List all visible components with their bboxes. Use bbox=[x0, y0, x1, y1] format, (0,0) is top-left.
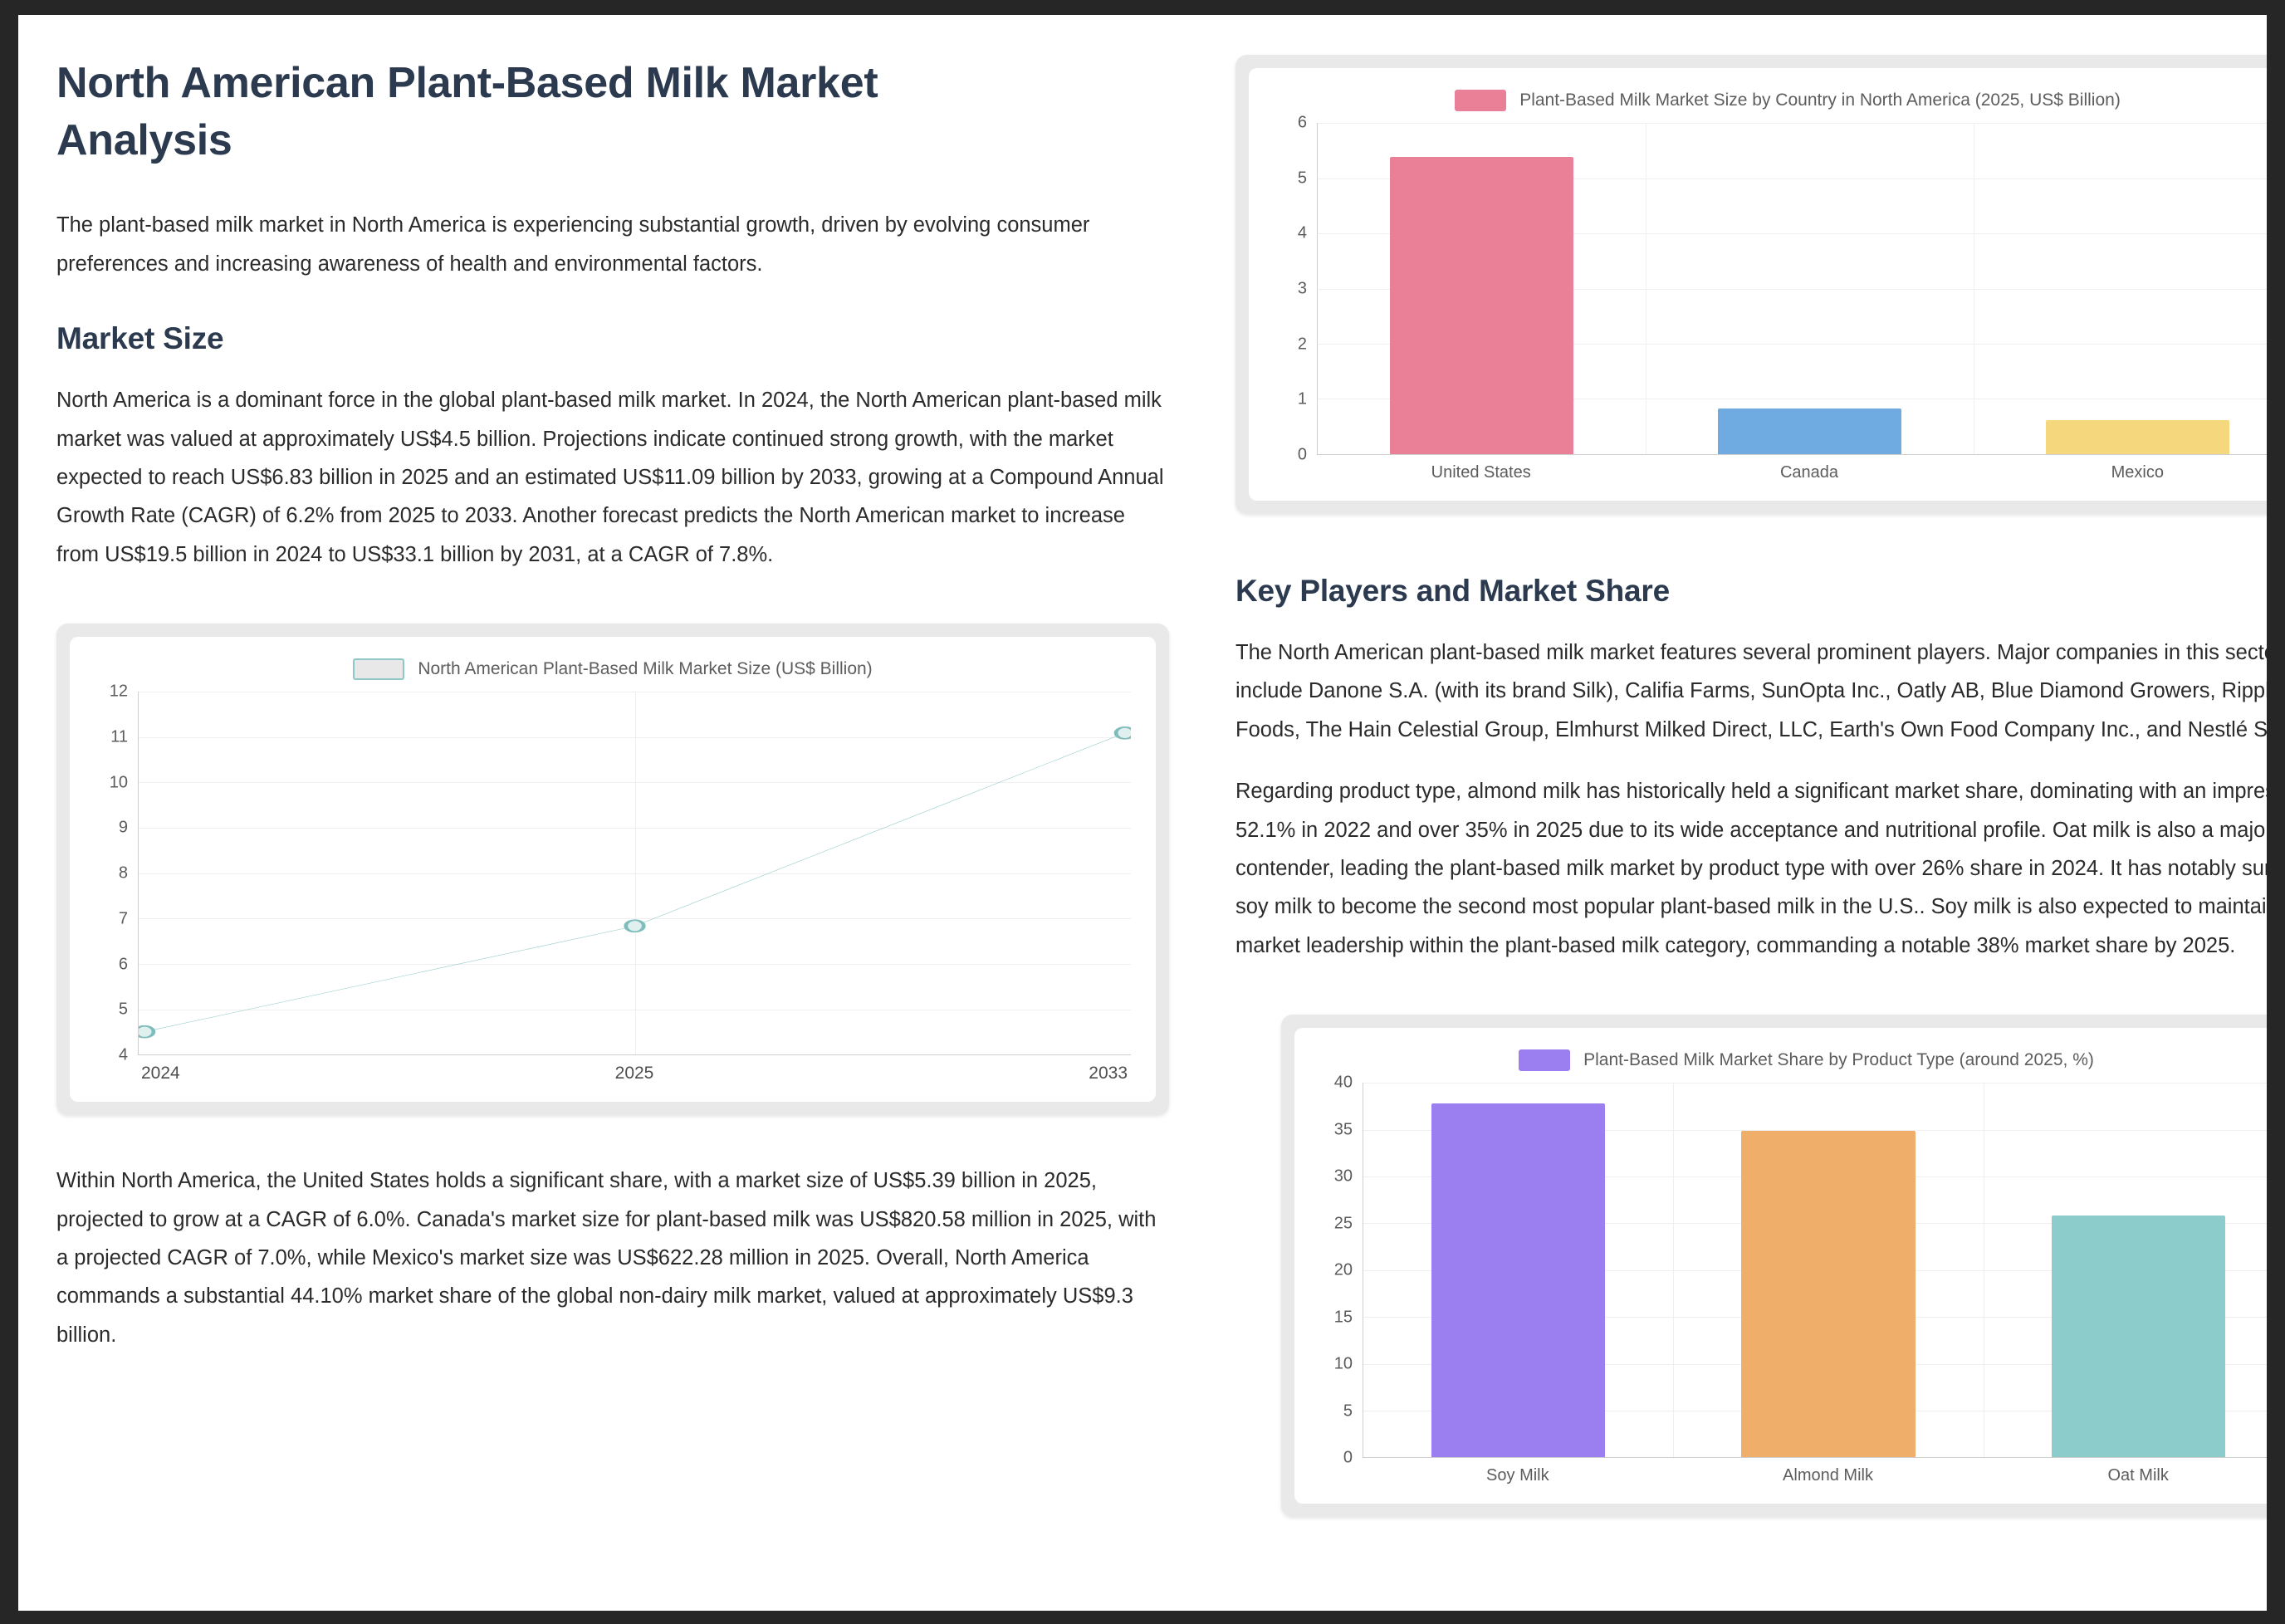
bar-mexico[interactable] bbox=[2046, 420, 2229, 454]
y-tick: 10 bbox=[1334, 1355, 1353, 1374]
chart-card: North American Plant-Based Milk Market S… bbox=[70, 637, 1156, 1102]
plot-area bbox=[1317, 123, 2267, 455]
legend-label: Plant-Based Milk Market Size by Country … bbox=[1519, 90, 2121, 110]
y-axis: 12 11 10 9 8 7 6 5 4 bbox=[95, 692, 138, 1055]
x-tick: Canada bbox=[1645, 463, 1973, 482]
bar-united-states[interactable] bbox=[1390, 157, 1573, 454]
section-heading-key-players: Key Players and Market Share bbox=[1235, 574, 2267, 609]
bar-slot bbox=[1974, 123, 2267, 454]
data-point-marker bbox=[1116, 727, 1131, 739]
y-tick: 8 bbox=[119, 864, 128, 883]
chart-product-type-share[interactable]: Plant-Based Milk Market Share by Product… bbox=[1281, 1015, 2267, 1517]
bar-soy-milk[interactable] bbox=[1431, 1103, 1605, 1457]
plot-area bbox=[1363, 1083, 2267, 1458]
x-axis: Soy Milk Almond Milk Oat Milk bbox=[1363, 1466, 2267, 1485]
x-tick: United States bbox=[1317, 463, 1645, 482]
chart-card: Plant-Based Milk Market Size by Country … bbox=[1249, 68, 2267, 501]
bar-slot bbox=[1646, 123, 1974, 454]
left-column: North American Plant-Based Milk Market A… bbox=[56, 55, 1169, 1594]
x-tick: Soy Milk bbox=[1363, 1466, 1673, 1485]
y-tick: 4 bbox=[1298, 224, 1307, 243]
y-tick: 0 bbox=[1298, 446, 1307, 465]
market-size-paragraph-2: Within North America, the United States … bbox=[56, 1162, 1169, 1354]
bar-series bbox=[1363, 1083, 2267, 1457]
x-tick: 2033 bbox=[799, 1064, 1131, 1083]
x-tick: Almond Milk bbox=[1673, 1466, 1984, 1485]
data-point-marker bbox=[626, 920, 644, 932]
y-tick: 5 bbox=[119, 1000, 128, 1020]
y-tick: 6 bbox=[1298, 114, 1307, 133]
bar-series bbox=[1318, 123, 2267, 454]
y-axis: 6 5 4 3 2 1 0 bbox=[1274, 123, 1317, 455]
data-point-marker bbox=[139, 1026, 154, 1038]
y-tick: 35 bbox=[1334, 1120, 1353, 1139]
y-tick: 20 bbox=[1334, 1261, 1353, 1280]
x-axis: United States Canada Mexico bbox=[1317, 463, 2267, 482]
y-tick: 30 bbox=[1334, 1167, 1353, 1186]
y-tick: 9 bbox=[119, 819, 128, 838]
bar-canada[interactable] bbox=[1718, 408, 1901, 454]
x-axis: 2024 2025 2033 bbox=[138, 1064, 1131, 1083]
x-tick: 2025 bbox=[470, 1064, 799, 1083]
legend-swatch-icon bbox=[353, 658, 404, 680]
right-column: Plant-Based Milk Market Size by Country … bbox=[1235, 55, 2267, 1594]
y-tick: 1 bbox=[1298, 390, 1307, 409]
y-tick: 3 bbox=[1298, 280, 1307, 299]
plot: 40 35 30 25 20 15 10 5 0 bbox=[1319, 1083, 2267, 1458]
chart-legend: Plant-Based Milk Market Share by Product… bbox=[1319, 1049, 2267, 1071]
bar-almond-milk[interactable] bbox=[1741, 1131, 1915, 1457]
bar-oat-milk[interactable] bbox=[2052, 1216, 2225, 1457]
chart-country-market-size[interactable]: Plant-Based Milk Market Size by Country … bbox=[1235, 55, 2267, 514]
market-size-paragraph-1: North America is a dominant force in the… bbox=[56, 381, 1169, 574]
y-tick: 5 bbox=[1298, 169, 1307, 188]
chart-legend: Plant-Based Milk Market Size by Country … bbox=[1274, 90, 2267, 111]
y-tick: 2 bbox=[1298, 335, 1307, 354]
plot: 12 11 10 9 8 7 6 5 4 bbox=[95, 692, 1131, 1055]
y-tick: 11 bbox=[110, 727, 128, 746]
legend-label: Plant-Based Milk Market Share by Product… bbox=[1583, 1050, 2094, 1070]
document-page: North American Plant-Based Milk Market A… bbox=[18, 15, 2267, 1611]
y-tick: 7 bbox=[119, 909, 128, 928]
key-players-paragraph-1: The North American plant-based milk mark… bbox=[1235, 633, 2267, 749]
x-tick: Oat Milk bbox=[1983, 1466, 2267, 1485]
two-column-layout: North American Plant-Based Milk Market A… bbox=[18, 15, 2267, 1611]
y-tick: 15 bbox=[1334, 1308, 1353, 1327]
chart-card: Plant-Based Milk Market Share by Product… bbox=[1294, 1028, 2267, 1504]
x-tick: Mexico bbox=[1974, 463, 2267, 482]
y-tick: 4 bbox=[119, 1046, 128, 1065]
y-tick: 0 bbox=[1343, 1449, 1353, 1468]
y-tick: 12 bbox=[110, 682, 128, 702]
chart-na-market-size-trend[interactable]: North American Plant-Based Milk Market S… bbox=[56, 624, 1169, 1115]
chart-legend: North American Plant-Based Milk Market S… bbox=[95, 658, 1131, 680]
section-heading-market-size: Market Size bbox=[56, 321, 1169, 356]
y-tick: 5 bbox=[1343, 1401, 1353, 1421]
legend-label: North American Plant-Based Milk Market S… bbox=[418, 659, 872, 679]
bar-slot bbox=[1984, 1083, 2267, 1457]
bar-slot bbox=[1673, 1083, 1983, 1457]
y-tick: 40 bbox=[1334, 1074, 1353, 1093]
intro-paragraph: The plant-based milk market in North Ame… bbox=[56, 206, 1169, 283]
bar-slot bbox=[1363, 1083, 1673, 1457]
y-tick: 6 bbox=[119, 955, 128, 974]
legend-swatch-icon bbox=[1455, 90, 1506, 111]
bar-slot bbox=[1318, 123, 1646, 454]
plot: 6 5 4 3 2 1 0 bbox=[1274, 123, 2267, 455]
x-tick: 2024 bbox=[138, 1064, 470, 1083]
y-axis: 40 35 30 25 20 15 10 5 0 bbox=[1319, 1083, 1363, 1458]
key-players-paragraph-2: Regarding product type, almond milk has … bbox=[1235, 772, 2267, 965]
plot-area bbox=[138, 692, 1131, 1055]
page-title: North American Plant-Based Milk Market A… bbox=[56, 55, 986, 169]
y-tick: 10 bbox=[110, 773, 128, 792]
legend-swatch-icon bbox=[1519, 1049, 1570, 1071]
line-markers bbox=[139, 692, 1131, 1054]
y-tick: 25 bbox=[1334, 1214, 1353, 1233]
